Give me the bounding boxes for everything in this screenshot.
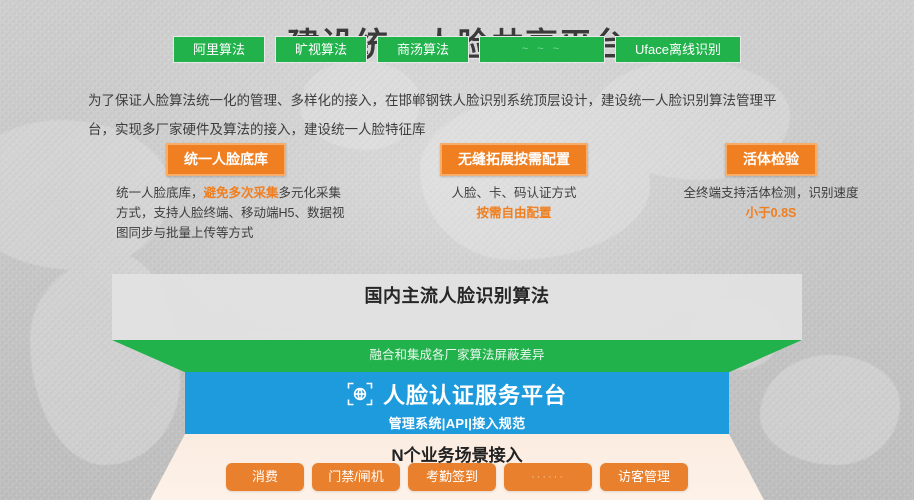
feature-desc-1-highlight: 避免多次采集 xyxy=(204,186,279,200)
scenarios-heading: N个业务场景接入 xyxy=(150,434,764,466)
feature-desc-1-plain-a: 统一人脸底库， xyxy=(116,186,204,200)
algorithm-chip-list: 阿里算法 旷视算法 商汤算法 ~ ~ ~ Uface离线识别 xyxy=(0,36,914,63)
feature-desc-2-plain: 人脸、卡、码认证方式 xyxy=(403,183,625,203)
feature-desc-1: 统一人脸底库，避免多次采集多元化采集方式，支持人脸终端、移动端H5、数据视图同步… xyxy=(116,183,352,243)
scenario-button-attendance[interactable]: 考勤签到 xyxy=(408,463,496,491)
scenario-button-list: 消费 门禁/闸机 考勤签到 ······ 访客管理 xyxy=(0,463,914,491)
scenario-button-consumption[interactable]: 消费 xyxy=(226,463,304,491)
algorithm-panel: 国内主流人脸识别算法 xyxy=(112,274,802,340)
feature-tag-3: 活体检验 xyxy=(725,143,817,176)
feature-column-3: 活体检验 全终端支持活体检测，识别速度 小于0.8S xyxy=(645,143,897,223)
feature-columns: 统一人脸底库 统一人脸底库，避免多次采集多元化采集方式，支持人脸终端、移动端H5… xyxy=(0,143,914,253)
fusion-text: 融合和集成各厂家算法屏蔽差异 xyxy=(112,340,802,370)
intro-line-1: 为了保证人脸算法统一化的管理、多样化的接入，在邯郸钢铁人脸识别系统顶层设计，建设… xyxy=(88,93,777,108)
feature-column-1: 统一人脸底库 统一人脸底库，避免多次采集多元化采集方式，支持人脸终端、移动端H5… xyxy=(116,143,352,243)
scenario-button-more[interactable]: ······ xyxy=(504,463,592,491)
slide-canvas: 建设统一人脸共享平台 为了保证人脸算法统一化的管理、多样化的接入，在邯郸钢铁人脸… xyxy=(0,0,914,500)
platform-bar: 人脸认证服务平台 管理系统|API|接入规范 xyxy=(185,372,729,434)
feature-tag-1: 统一人脸底库 xyxy=(166,143,286,176)
feature-desc-2: 人脸、卡、码认证方式 按需自由配置 xyxy=(403,183,625,223)
scenario-button-visitor[interactable]: 访客管理 xyxy=(600,463,688,491)
algorithm-chip-uface[interactable]: Uface离线识别 xyxy=(615,36,741,63)
fusion-trapezoid: 融合和集成各厂家算法屏蔽差异 xyxy=(112,340,802,372)
feature-desc-3-plain: 全终端支持活体检测，识别速度 xyxy=(645,183,897,203)
algorithm-heading: 国内主流人脸识别算法 xyxy=(112,274,802,308)
platform-title: 人脸认证服务平台 xyxy=(383,378,567,410)
feature-desc-2-highlight: 按需自由配置 xyxy=(403,203,625,223)
feature-desc-3-highlight: 小于0.8S xyxy=(645,203,897,223)
feature-tag-2: 无缝拓展按需配置 xyxy=(440,143,588,176)
intro-paragraph: 为了保证人脸算法统一化的管理、多样化的接入，在邯郸钢铁人脸识别系统顶层设计，建设… xyxy=(88,86,826,144)
algorithm-chip-megvii[interactable]: 旷视算法 xyxy=(275,36,367,63)
algorithm-chip-ali[interactable]: 阿里算法 xyxy=(173,36,265,63)
intro-line-2: 台，实现多厂家硬件及算法的接入，建设统一人脸特征库 xyxy=(88,115,826,144)
algorithm-chip-sensetime[interactable]: 商汤算法 xyxy=(377,36,469,63)
algorithm-chip-more[interactable]: ~ ~ ~ xyxy=(479,36,605,63)
feature-desc-3: 全终端支持活体检测，识别速度 小于0.8S xyxy=(645,183,897,223)
face-scan-icon xyxy=(347,381,373,407)
scenario-button-access-control[interactable]: 门禁/闸机 xyxy=(312,463,400,491)
feature-column-2: 无缝拓展按需配置 人脸、卡、码认证方式 按需自由配置 xyxy=(403,143,625,223)
platform-subtitle: 管理系统|API|接入规范 xyxy=(185,413,729,432)
